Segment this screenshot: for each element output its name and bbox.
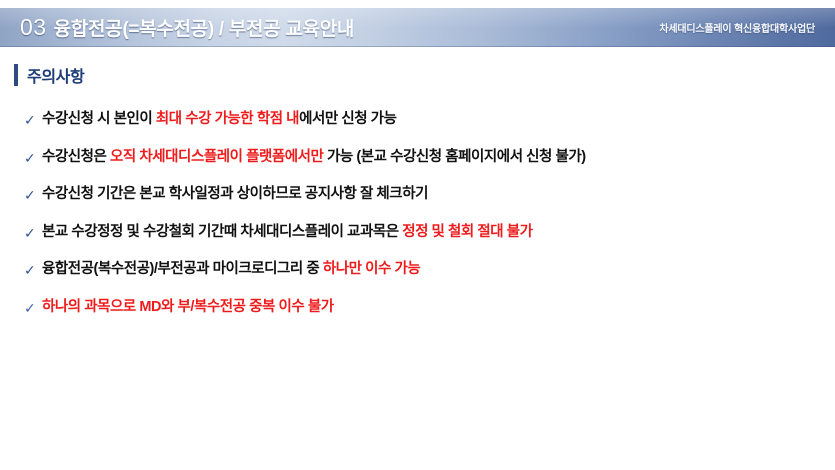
section-heading-label: 주의사항 bbox=[27, 63, 84, 87]
notice-highlight-text: 최대 수강 가능한 학점 내 bbox=[156, 111, 299, 127]
section-accent-bar bbox=[14, 64, 18, 86]
notice-plain-text: 융합전공(복수전공)/부전공과 마이크로디그리 중 bbox=[42, 261, 323, 277]
notice-item: ✓하나의 과목으로 MD와 부/복수전공 중복 이수 불가 bbox=[24, 298, 814, 336]
check-icon: ✓ bbox=[24, 224, 42, 242]
notice-plain-text: 에서만 신청 가능 bbox=[299, 111, 396, 127]
notice-item: ✓융합전공(복수전공)/부전공과 마이크로디그리 중 하나만 이수 가능 bbox=[24, 260, 814, 298]
notice-highlight-text: 하나의 과목으로 MD와 부/복수전공 중복 이수 불가 bbox=[42, 299, 334, 315]
notice-text: 수강신청 기간은 본교 학사일정과 상이하므로 공지사항 잘 체크하기 bbox=[42, 185, 428, 203]
check-icon: ✓ bbox=[24, 186, 42, 204]
check-icon: ✓ bbox=[24, 149, 42, 167]
section-number: 03 bbox=[20, 14, 47, 41]
notice-text: 하나의 과목으로 MD와 부/복수전공 중복 이수 불가 bbox=[42, 298, 334, 316]
notice-text: 수강신청은 오직 차세대디스플레이 플랫폼에서만 가능 (본교 수강신청 홈페이… bbox=[42, 148, 586, 166]
page-title: 03 융합전공(=복수전공) / 부전공 교육안내 bbox=[0, 14, 354, 41]
notice-item: ✓본교 수강정정 및 수강철회 기간때 차세대디스플레이 교과목은 정정 및 철… bbox=[24, 223, 814, 261]
notice-list: ✓수강신청 시 본인이 최대 수강 가능한 학점 내에서만 신청 가능✓수강신청… bbox=[24, 110, 814, 335]
notice-highlight-text: 하나만 이수 가능 bbox=[323, 261, 420, 277]
header-inner: 03 융합전공(=복수전공) / 부전공 교육안내 차세대디스플레이 혁신융합대… bbox=[0, 8, 835, 47]
top-white-strip bbox=[0, 0, 835, 8]
notice-text: 융합전공(복수전공)/부전공과 마이크로디그리 중 하나만 이수 가능 bbox=[42, 260, 420, 278]
notice-plain-text: 가능 (본교 수강신청 홈페이지에서 신청 불가) bbox=[323, 149, 585, 165]
notice-item: ✓수강신청 기간은 본교 학사일정과 상이하므로 공지사항 잘 체크하기 bbox=[24, 185, 814, 223]
page-title-text: 융합전공(=복수전공) / 부전공 교육안내 bbox=[54, 14, 354, 41]
notice-item: ✓수강신청 시 본인이 최대 수강 가능한 학점 내에서만 신청 가능 bbox=[24, 110, 814, 148]
organization-label: 차세대디스플레이 혁신융합대학사업단 bbox=[659, 20, 835, 35]
slide-header-band: 03 융합전공(=복수전공) / 부전공 교육안내 차세대디스플레이 혁신융합대… bbox=[0, 8, 835, 47]
section-heading: 주의사항 bbox=[14, 63, 84, 87]
notice-plain-text: 수강신청 기간은 본교 학사일정과 상이하므로 공지사항 잘 체크하기 bbox=[42, 186, 428, 202]
notice-plain-text: 수강신청은 bbox=[42, 149, 110, 165]
notice-plain-text: 본교 수강정정 및 수강철회 기간때 차세대디스플레이 교과목은 bbox=[42, 224, 402, 240]
notice-item: ✓수강신청은 오직 차세대디스플레이 플랫폼에서만 가능 (본교 수강신청 홈페… bbox=[24, 148, 814, 186]
notice-text: 수강신청 시 본인이 최대 수강 가능한 학점 내에서만 신청 가능 bbox=[42, 110, 396, 128]
notice-plain-text: 수강신청 시 본인이 bbox=[42, 111, 156, 127]
check-icon: ✓ bbox=[24, 261, 42, 279]
notice-text: 본교 수강정정 및 수강철회 기간때 차세대디스플레이 교과목은 정정 및 철회… bbox=[42, 223, 533, 241]
notice-highlight-text: 정정 및 철회 절대 불가 bbox=[402, 224, 532, 240]
notice-highlight-text: 오직 차세대디스플레이 플랫폼에서만 bbox=[110, 149, 323, 165]
check-icon: ✓ bbox=[24, 111, 42, 129]
check-icon: ✓ bbox=[24, 299, 42, 317]
